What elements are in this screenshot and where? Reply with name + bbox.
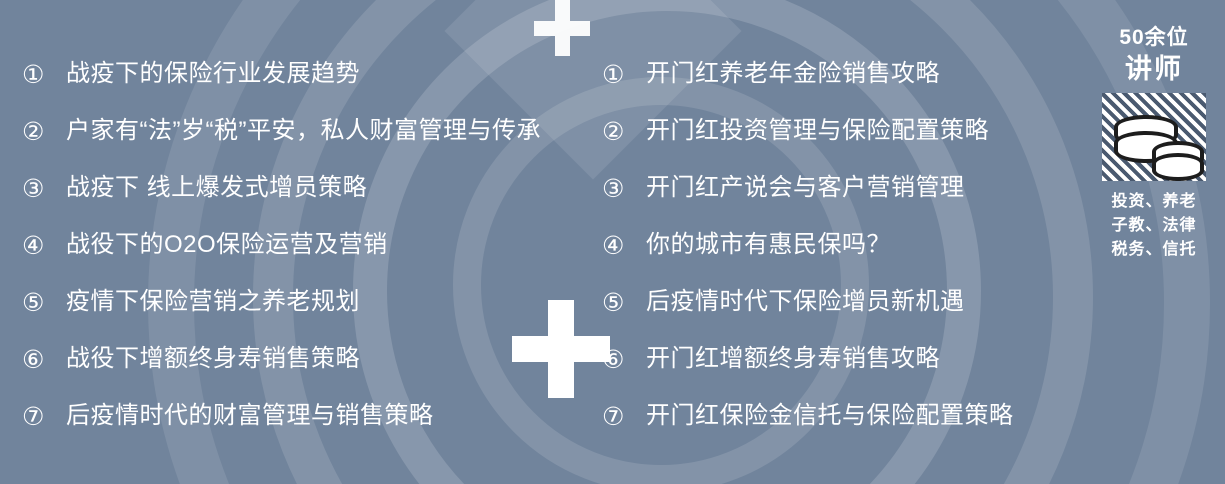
list-item: ⑥ 开门红增额终身寿销售攻略: [602, 331, 1072, 388]
list-item-number: ④: [22, 233, 66, 258]
list-item: ④ 战役下的O2O保险运营及营销: [22, 217, 612, 274]
list-item-label: 开门红保险金信托与保险配置策略: [646, 402, 1014, 431]
list-item-label: 疫情下保险营销之养老规划: [66, 288, 360, 317]
list-item-label: 后疫情时代的财富管理与销售策略: [66, 402, 434, 431]
slide-canvas: ① 战疫下的保险行业发展趋势 ② 户家有“法”岁“税”平安，私人财富管理与传承 …: [0, 0, 1225, 484]
list-item: ⑦ 后疫情时代的财富管理与销售策略: [22, 388, 612, 445]
list-item-number: ⑤: [22, 290, 66, 315]
lecturer-topics-line-1: 投资、养老: [1095, 190, 1213, 214]
list-item-number: ②: [22, 119, 66, 144]
list-item-label: 开门红养老年金险销售攻略: [646, 60, 940, 89]
list-item-number: ⑤: [602, 290, 646, 315]
list-item-label: 户家有“法”岁“税”平安，私人财富管理与传承: [66, 117, 541, 146]
list-item-label: 你的城市有惠民保吗？: [646, 231, 891, 260]
list-item-number: ②: [602, 119, 646, 144]
list-item: ③ 开门红产说会与客户营销管理: [602, 160, 1072, 217]
list-item-number: ⑥: [602, 347, 646, 372]
list-item-number: ①: [602, 62, 646, 87]
list-item: ② 开门红投资管理与保险配置策略: [602, 103, 1072, 160]
list-item-number: ⑥: [22, 347, 66, 372]
list-item-number: ③: [22, 176, 66, 201]
list-item: ② 户家有“法”岁“税”平安，私人财富管理与传承: [22, 103, 612, 160]
list-item: ① 战疫下的保险行业发展趋势: [22, 46, 612, 103]
list-item-label: 后疫情时代下保险增员新机遇: [646, 288, 965, 317]
list-item-label: 开门红投资管理与保险配置策略: [646, 117, 989, 146]
lecturer-badge: 50余位 讲师 投资、养老 子教、法律 税务、信托: [1095, 24, 1213, 262]
list-item-label: 战疫下的保险行业发展趋势: [66, 60, 360, 89]
coins-icon: [1102, 93, 1206, 181]
lecturer-topics-line-3: 税务、信托: [1095, 238, 1213, 262]
list-item-number: ①: [22, 62, 66, 87]
lecturer-topics-line-2: 子教、法律: [1095, 214, 1213, 238]
list-item-label: 战役下的O2O保险运营及营销: [66, 231, 388, 260]
lecturer-title: 讲师: [1095, 52, 1213, 87]
lecturer-count: 50余位: [1095, 24, 1213, 52]
list-item-label: 开门红增额终身寿销售攻略: [646, 345, 940, 374]
list-item: ⑥ 战役下增额终身寿销售策略: [22, 331, 612, 388]
list-item: ⑤ 后疫情时代下保险增员新机遇: [602, 274, 1072, 331]
course-list-right: ① 开门红养老年金险销售攻略 ② 开门红投资管理与保险配置策略 ③ 开门红产说会…: [602, 46, 1072, 445]
list-item: ④ 你的城市有惠民保吗？: [602, 217, 1072, 274]
list-item-label: 战疫下 线上爆发式增员策略: [66, 174, 367, 203]
list-item-label: 战役下增额终身寿销售策略: [66, 345, 360, 374]
list-item: ① 开门红养老年金险销售攻略: [602, 46, 1072, 103]
course-list-left: ① 战疫下的保险行业发展趋势 ② 户家有“法”岁“税”平安，私人财富管理与传承 …: [22, 46, 612, 445]
list-item-number: ⑦: [602, 404, 646, 429]
list-item-number: ⑦: [22, 404, 66, 429]
lecturer-topics: 投资、养老 子教、法律 税务、信托: [1095, 190, 1213, 262]
list-item-label: 开门红产说会与客户营销管理: [646, 174, 965, 203]
list-item: ⑦ 开门红保险金信托与保险配置策略: [602, 388, 1072, 445]
list-item: ③ 战疫下 线上爆发式增员策略: [22, 160, 612, 217]
list-item: ⑤ 疫情下保险营销之养老规划: [22, 274, 612, 331]
list-item-number: ③: [602, 176, 646, 201]
list-item-number: ④: [602, 233, 646, 258]
